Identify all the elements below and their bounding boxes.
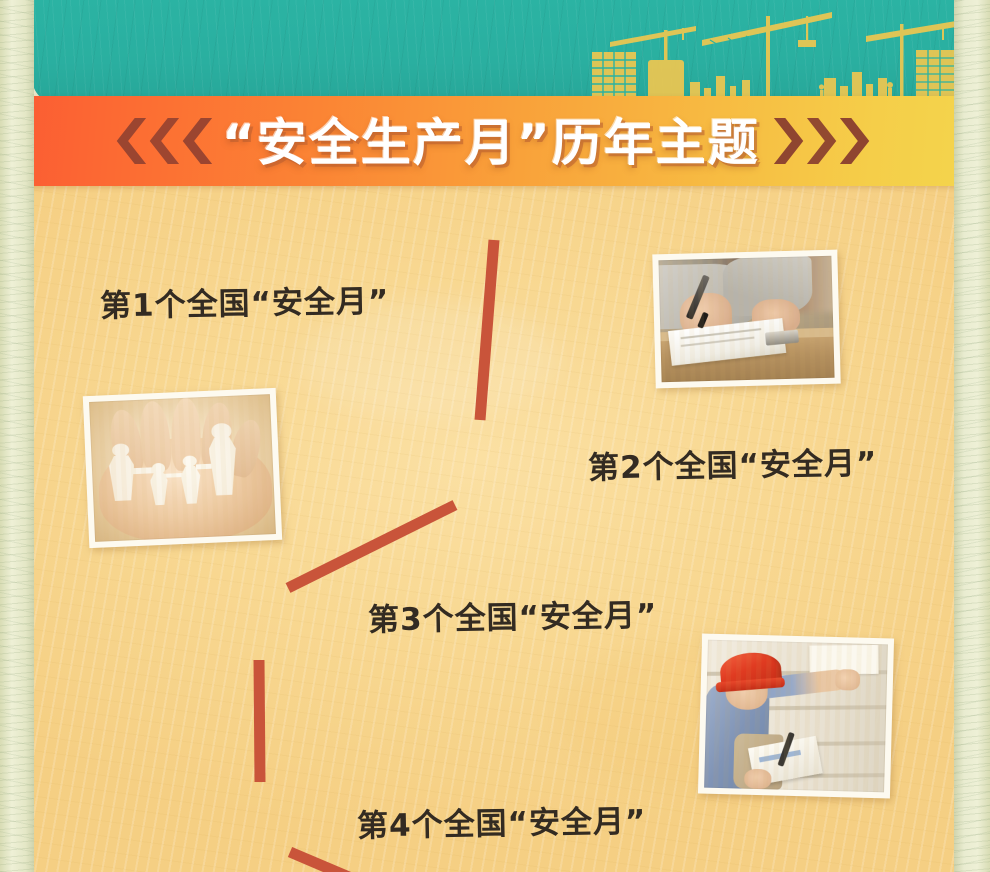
left-paper-rail <box>0 0 34 872</box>
infographic-poster: “安全生产月”历年主题 <box>0 0 990 872</box>
timeline-label-1982: 第3个全国“安全月” <box>368 589 658 639</box>
connector-1981-1982 <box>288 505 455 588</box>
photo-frame <box>652 250 840 389</box>
chevron-left-group <box>116 118 212 164</box>
connector-1980-1981 <box>480 240 494 420</box>
page-title: “安全生产月”历年主题 <box>222 103 760 179</box>
chevron-right-icon <box>840 118 870 164</box>
chevron-left-icon <box>149 118 179 164</box>
chevron-left-icon <box>182 118 212 164</box>
chevron-left-icon <box>116 118 146 164</box>
photo-worker <box>698 634 894 799</box>
timeline-label-1983: 第4个全国“安全月” <box>357 795 647 845</box>
photo-frame <box>698 634 894 799</box>
connector-1982-1983 <box>259 660 260 782</box>
timeline-label-1980: 第1个全国“安全月” <box>100 275 390 325</box>
connector-1983-next <box>290 852 370 872</box>
photo-frame <box>83 388 282 548</box>
photo-clipboard <box>652 250 840 389</box>
photo-family <box>83 388 282 548</box>
title-banner: “安全生产月”历年主题 <box>0 96 990 186</box>
chevron-right-icon <box>774 118 804 164</box>
chevron-right-icon <box>807 118 837 164</box>
chevron-right-group <box>774 118 870 164</box>
timeline-label-1981: 第2个全国“安全月” <box>588 437 878 487</box>
right-paper-rail <box>954 0 990 872</box>
